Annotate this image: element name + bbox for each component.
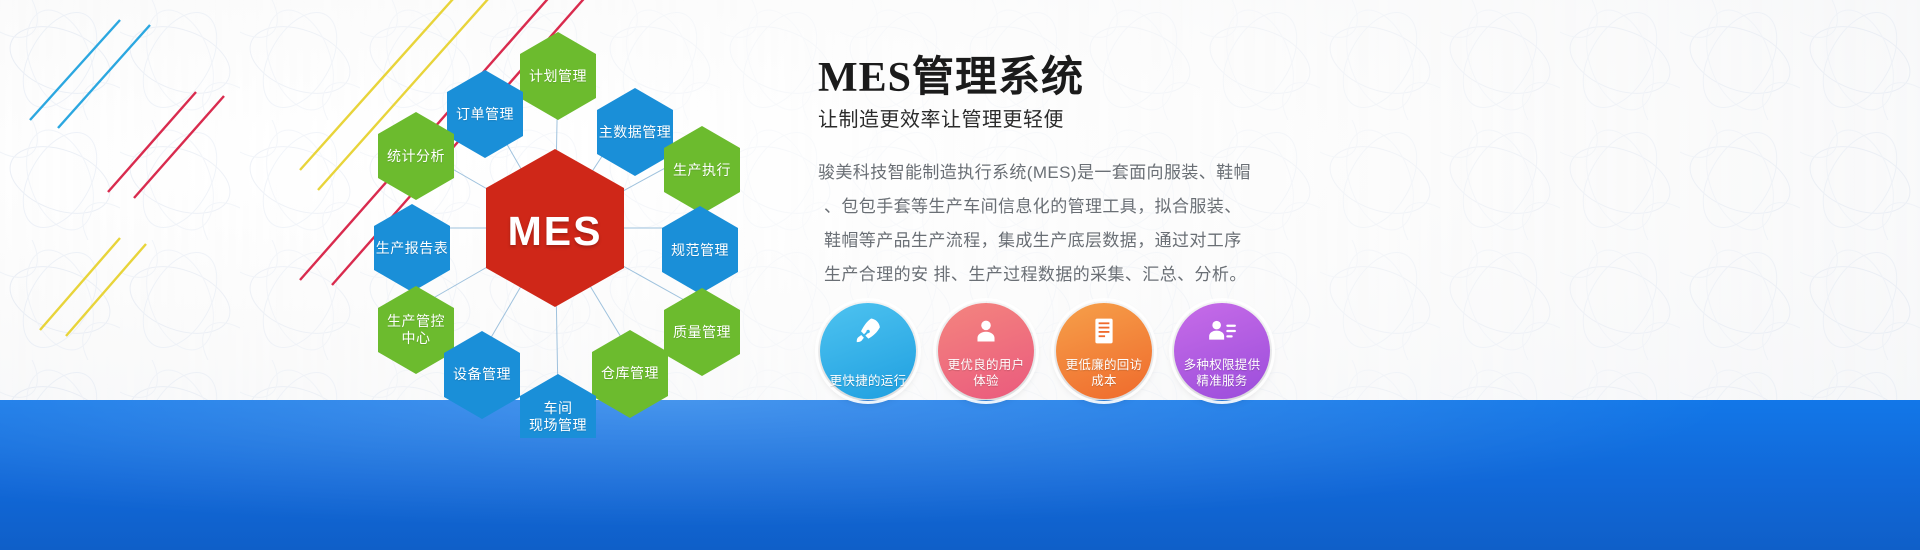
hex-shape-workshop-site [520,374,596,438]
badge-label: 更优良的用户 体验 [940,357,1032,389]
hex-shape-control-center [378,286,454,374]
users-key-icon [1174,314,1270,348]
hex-shape-order-management [447,70,523,158]
badge-label-line-1: 多种权限提供 [1184,358,1261,372]
badge-label-line-1: 更优良的用户 [948,358,1025,372]
page-subtitle: 让制造更效率让管理更轻便 [818,106,1338,134]
hex-shape-production-report [374,204,450,292]
feature-badge-permissions[interactable]: 多种权限提供 精准服务 [1174,303,1270,399]
hex-shape-plan-management [520,32,596,120]
badge-label: 更快捷的运行 [822,373,914,389]
badge-label: 多种权限提供 精准服务 [1176,357,1268,389]
background-bottom-glow [0,400,1920,550]
hex-shape-production-exec [664,126,740,214]
hex-shape-statistics [378,112,454,200]
user-icon [938,314,1034,348]
feature-badge-low-cost[interactable]: 更低廉的回访 成本 [1056,303,1152,399]
badge-label: 更低廉的回访 成本 [1058,357,1150,389]
feature-badge-user-experience[interactable]: 更优良的用户 体验 [938,303,1034,399]
invoice-icon [1056,314,1152,348]
description-line-1: 骏美科技智能制造执行系统(MES)是一套面向服装、鞋帽 [818,156,1288,190]
description-line-2: 、包包手套等生产车间信息化的管理工具，拟合服装、 [824,190,1288,224]
badge-label-line-1: 更低廉的回访 [1066,358,1143,372]
feature-badge-fast-operation[interactable]: 更快捷的运行 [820,303,916,399]
description-line-4: 生产合理的安 排、生产过程数据的采集、汇总、分析。 [824,258,1288,292]
hero-description: 骏美科技智能制造执行系统(MES)是一套面向服装、鞋帽 、包包手套等生产车间信息… [818,156,1288,292]
badge-label-line-2: 精准服务 [1196,374,1247,388]
mes-hero-banner: MES 计划管理 订单管理 主数据管理 统计分析 生产执行 生产报告表 规范管理… [0,0,1920,550]
badge-label-line-2: 成本 [1091,374,1117,388]
hex-shape-standard-management [662,206,738,294]
page-title: MES管理系统 [818,52,1338,104]
hex-shape-equipment-management [444,331,520,419]
feature-badges: 更快捷的运行 更优良的用户 体验 [820,303,1270,399]
rocket-icon [820,314,916,348]
hex-shape-master-data [597,88,673,176]
hero-copy: MES管理系统 让制造更效率让管理更轻便 骏美科技智能制造执行系统(MES)是一… [818,52,1338,292]
mes-hex-diagram: MES 计划管理 订单管理 主数据管理 统计分析 生产执行 生产报告表 规范管理… [330,18,780,438]
description-line-3: 鞋帽等产品生产流程，集成生产底层数据，通过对工序 [824,224,1288,258]
hex-center-label: MES [486,208,624,255]
hex-shape-quality-management [664,288,740,376]
badge-label-line-2: 体验 [973,374,999,388]
hex-shape-warehouse-management [592,330,668,418]
badge-label-line-1: 更快捷的运行 [830,374,907,388]
